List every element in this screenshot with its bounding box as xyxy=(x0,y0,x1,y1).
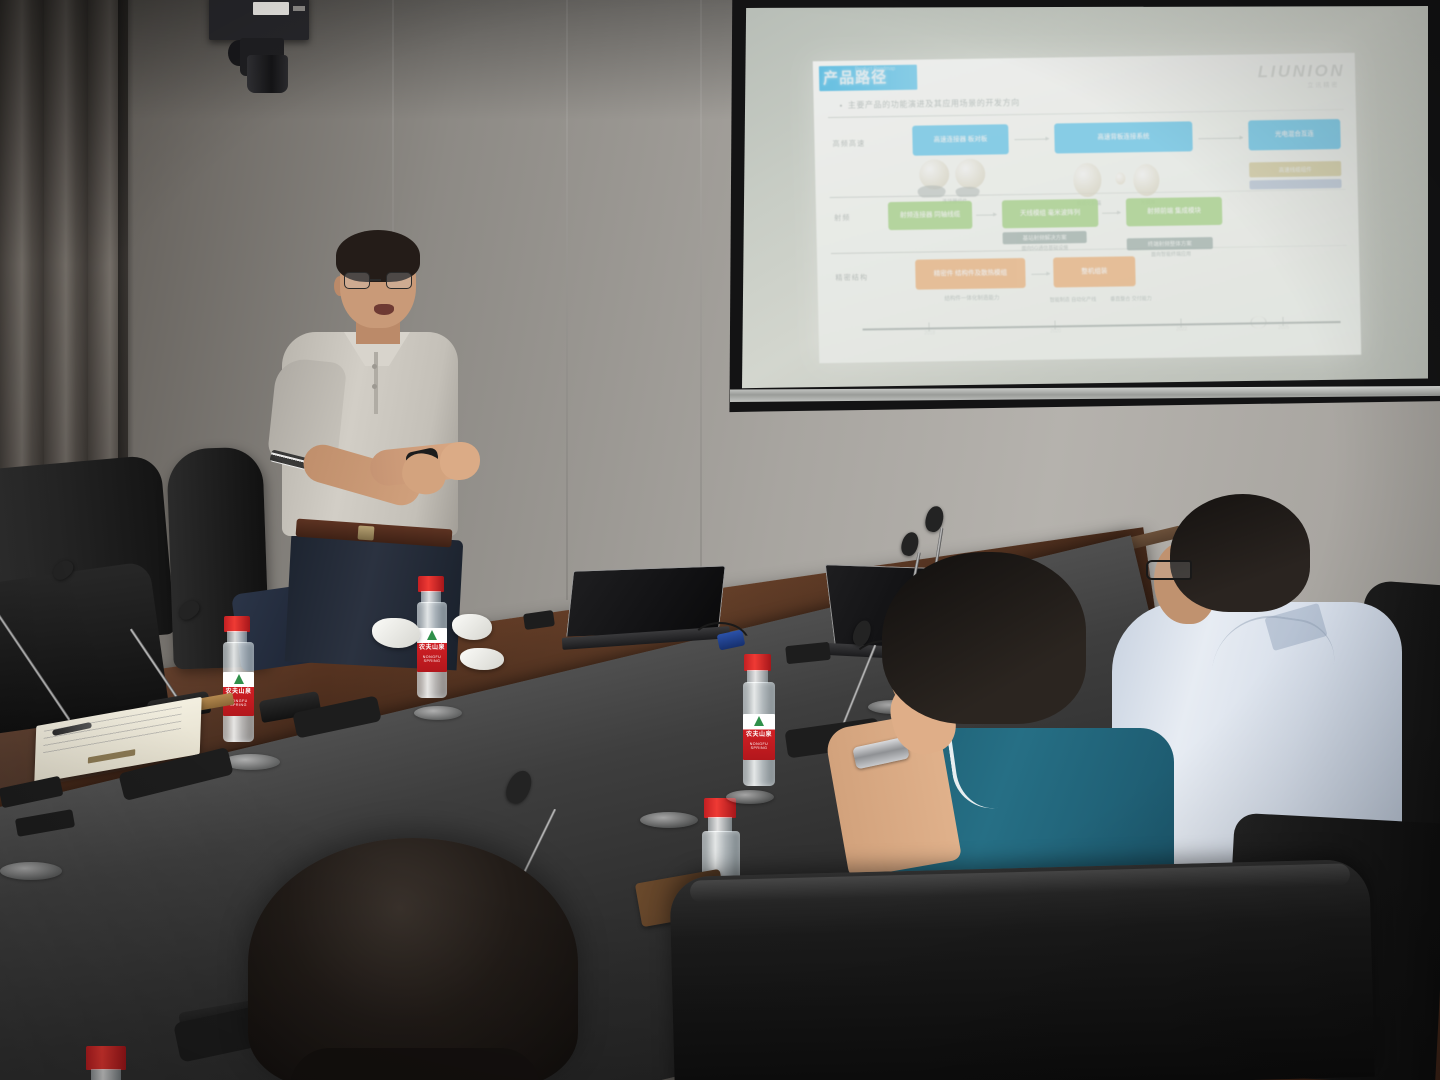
slide-title-en: Product Roadmap xyxy=(855,66,895,73)
slide-illustration-dome xyxy=(917,185,945,197)
slide-node-blue-2: 高速背板连接系统 xyxy=(1054,121,1193,153)
bottle-label: 农夫山泉 NONGFU SPRING xyxy=(417,628,447,672)
slide-row-label-highspeed: 高频高速 xyxy=(832,138,865,149)
bottle-cap xyxy=(86,1046,126,1070)
slide-illustration-dome xyxy=(956,187,980,197)
ceiling-speaker-icon xyxy=(209,0,309,40)
slide-illustration-bulb xyxy=(1073,163,1102,197)
slide-illustration-bulb-small xyxy=(1115,172,1125,184)
timeline-tick-label: 2025 xyxy=(1270,325,1298,331)
eyeglass-lens xyxy=(344,272,370,289)
slide-node-orange-2: 整机组装 xyxy=(1053,256,1136,287)
cable-grommet xyxy=(0,862,62,880)
presenter-mouth xyxy=(374,304,394,315)
presenter-placket xyxy=(374,352,378,414)
speaker-body xyxy=(247,55,288,93)
bottle-cap xyxy=(744,654,771,671)
slide-timeline-axis: 2018 2020 2022 2025 xyxy=(863,321,1341,330)
crumpled-paper xyxy=(452,614,492,640)
presentation-slide: 产品路径 Product Roadmap LIUNION 立讯精密 主要产品的功… xyxy=(813,53,1362,363)
bottle-tree-icon xyxy=(754,716,764,726)
timeline-tick-label: 2018 xyxy=(916,330,944,336)
company-logo: LIUNION xyxy=(1257,61,1345,82)
company-logo-subtitle: 立讯精密 xyxy=(1307,80,1339,90)
bottle-neck xyxy=(708,817,732,832)
timeline-tick-label: 2022 xyxy=(1168,326,1196,332)
timeline-axis-break xyxy=(1250,316,1266,328)
notebook-spine xyxy=(88,749,135,763)
bottle-tree-icon xyxy=(234,674,244,684)
attendee-teal-shirt xyxy=(796,552,1166,912)
slide-sublabel-blue xyxy=(1249,179,1341,189)
bottle-brand-subtext: NONGFU SPRING xyxy=(417,655,447,664)
bottle-tree-icon xyxy=(427,630,437,640)
slide-arrow xyxy=(1031,274,1049,275)
timeline-tick-label: 2020 xyxy=(1042,328,1070,334)
timeline-tick: 2018 xyxy=(928,322,929,331)
shirt-button xyxy=(372,364,377,369)
slide-caption: 结构件一体化制造能力 xyxy=(914,294,1030,304)
eyeglass-bridge xyxy=(370,279,381,281)
slide-node-green-3: 射频前端 集成模块 xyxy=(1126,197,1223,227)
slide-illustration-bulb xyxy=(1133,164,1160,196)
cable-grommet xyxy=(640,812,698,828)
slide-node-green-2: 天线模组 毫米波阵列 xyxy=(1002,199,1099,229)
shirt-button xyxy=(372,384,377,389)
slide-caption: 垂直整合 交付能力 xyxy=(1104,296,1158,304)
cable-grommet xyxy=(414,706,462,720)
cable-grommet xyxy=(726,790,774,804)
bottle-brand-text: 农夫山泉 xyxy=(743,732,775,739)
eyeglass-lens xyxy=(386,272,412,289)
slide-node-orange-1: 精密件 结构件及散热模组 xyxy=(915,258,1026,290)
slide-sublabel-gray: 基站射频解决方案 xyxy=(1003,231,1087,244)
timeline-tick: 2025 xyxy=(1282,317,1283,326)
bottle-cap xyxy=(224,616,250,632)
slide-divider xyxy=(828,109,1344,118)
slide-sublabel-khaki: 高速线缆组件 xyxy=(1249,161,1341,177)
bottle-brand-text: 农夫山泉 xyxy=(417,645,447,652)
slide-arrow xyxy=(1102,212,1120,213)
bottle-neck xyxy=(91,1069,121,1080)
speaker-brand-tag xyxy=(253,2,289,15)
slide-bullet-text: 主要产品的功能演进及其应用场景的开发方向 xyxy=(840,97,1020,111)
slide-arrow xyxy=(976,214,996,215)
bottle-brand-subtext: NONGFU SPRING xyxy=(743,742,775,751)
presenter-hand-right xyxy=(440,442,480,480)
slide-row-label-structure: 精密结构 xyxy=(835,272,868,283)
slide-caption: 智能制造 自动化产线 xyxy=(1046,297,1100,305)
slide-node-green-1: 射频连接器 同轴线缆 xyxy=(888,201,973,230)
slide-arrow xyxy=(1199,138,1243,140)
timeline-tick: 2020 xyxy=(1054,321,1055,330)
slide-node-blue-3: 光电混合互连 xyxy=(1248,119,1341,150)
slide-caption: 面向智能终端应用 xyxy=(1121,251,1221,260)
slide-node-blue-1: 高速连接器 板对板 xyxy=(912,124,1009,156)
slide-sublabel-gray: 终端射频整体方案 xyxy=(1127,237,1213,250)
belt-buckle xyxy=(358,525,375,540)
attendee-foreground xyxy=(248,838,578,1080)
eyeglasses-icon xyxy=(344,272,412,290)
bottle-label: 农夫山泉 NONGFU SPRING xyxy=(743,714,775,760)
slide-caption: 面向5G通信基础设施 xyxy=(997,245,1093,254)
attendee-hair xyxy=(882,552,1086,724)
slide-illustration-circle xyxy=(955,159,986,189)
slide-row-label-rf: 射频 xyxy=(834,213,851,223)
attendee-neck xyxy=(290,1048,540,1080)
speaker-tag-secondary xyxy=(293,6,305,11)
attendee-hair xyxy=(1170,494,1310,612)
conference-room-photo: 产品路径 Product Roadmap LIUNION 立讯精密 主要产品的功… xyxy=(0,0,1440,1080)
timeline-tick: 2022 xyxy=(1180,319,1181,328)
crumpled-paper xyxy=(460,648,504,670)
bottle-cap xyxy=(418,576,444,592)
slide-arrow xyxy=(1014,139,1048,141)
